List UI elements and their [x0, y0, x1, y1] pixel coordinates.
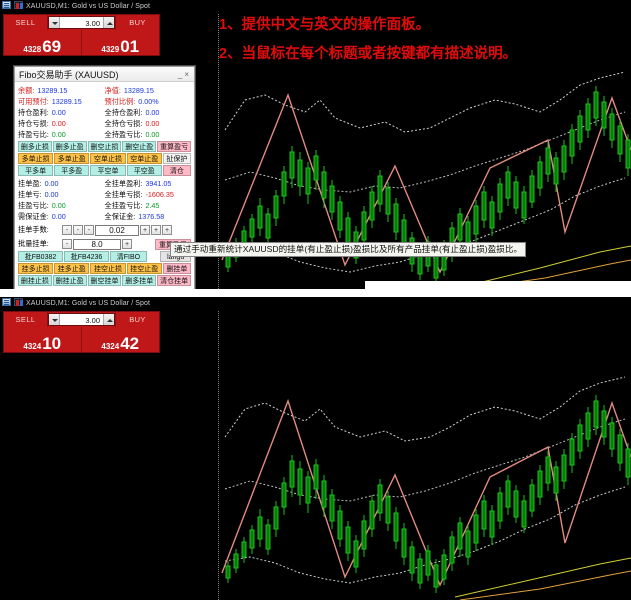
- panel-button-删空止盈[interactable]: 删空止盈: [122, 141, 156, 152]
- candle-chart-icon: [14, 1, 23, 9]
- stat-cell: 全持仓盈利:0.00: [105, 108, 192, 118]
- stat-row: 持盈亏比:0.00全持盈亏比:0.00: [18, 129, 191, 140]
- volume-down-icon[interactable]: [49, 314, 60, 325]
- screenshot-root: XAUUSD,M1: Gold vs US Dollar / Spot SELL…: [0, 0, 631, 600]
- terminal-pane-chinese: XAUUSD,M1: Gold vs US Dollar / Spot SELL…: [0, 0, 631, 289]
- vol-inc-1[interactable]: +: [140, 225, 150, 235]
- buy-price-big: 01: [120, 38, 139, 55]
- stat-label: 挂单亏:: [18, 190, 42, 200]
- stat-label: 持仓亏损:: [18, 119, 49, 129]
- sell-price[interactable]: 4328 69: [4, 30, 82, 56]
- stat-label: 可用预付:: [18, 97, 49, 107]
- stat-cell: 全挂单亏损:-1606.35: [105, 190, 192, 200]
- vol-inc-2[interactable]: +: [151, 225, 161, 235]
- stat-value: 0.00: [52, 201, 66, 211]
- stat-row: 挂盈亏比:0.00全挂盈亏比:2.45: [18, 200, 191, 211]
- vol-inc-3[interactable]: +: [162, 225, 172, 235]
- stats-block-2: 挂单盈:0.00全挂单盈利:3941.05挂单亏:0.00全挂单亏损:-1606…: [18, 178, 191, 222]
- button-row: 挂多止损挂多止盈挂空止损挂空止盈删挂单: [18, 263, 191, 274]
- volume-input[interactable]: 0.02: [95, 225, 139, 236]
- stat-label: 预付比例:: [105, 97, 136, 107]
- stat-label: 持盈亏比:: [18, 130, 49, 140]
- buy-price[interactable]: 4329 01: [82, 30, 160, 56]
- stat-value: 0.00: [52, 108, 66, 118]
- stat-value: 13289.15: [52, 97, 82, 107]
- stat-label: 全挂单亏损:: [105, 190, 143, 200]
- stat-label: 挂盈亏比:: [18, 201, 49, 211]
- panel-button-清仓[interactable]: 清仓: [163, 165, 191, 176]
- stat-value: 0.00: [52, 130, 66, 140]
- stat-cell: 全持仓亏损:0.00: [105, 119, 192, 129]
- panel-button-empty: [148, 251, 159, 262]
- panel-title-bar[interactable]: Fibo交易助手 (XAUUSD) _×: [15, 67, 194, 82]
- white-corner-fill: [365, 281, 631, 297]
- stat-label: 持仓盈利:: [18, 108, 49, 118]
- stat-label: 全持仓亏损:: [105, 119, 143, 129]
- stat-label: 全持盈亏比:: [105, 130, 143, 140]
- stat-cell: 挂盈亏比:0.00: [18, 201, 105, 211]
- panel-button-删空挂单[interactable]: 删空挂单: [88, 275, 122, 286]
- batch-inc[interactable]: +: [122, 239, 132, 249]
- panel-button-平空单[interactable]: 平空单: [90, 165, 125, 176]
- grid-icon: [2, 1, 11, 9]
- panel-button-删空止损[interactable]: 删空止损: [88, 141, 122, 152]
- buy-button[interactable]: BUY: [115, 312, 159, 327]
- panel-window-controls[interactable]: _×: [178, 70, 194, 79]
- panel-button-删多挂单[interactable]: 删多挂单: [122, 275, 156, 286]
- buy-price[interactable]: 4324 42: [82, 327, 160, 353]
- chart-symbol-label: XAUUSD,M1: Gold vs US Dollar / Spot: [26, 300, 150, 307]
- volume-up-icon[interactable]: [103, 17, 114, 28]
- volume-stepper[interactable]: 3.00: [48, 313, 115, 326]
- stat-label: 净值:: [105, 86, 121, 96]
- stat-row: 需保证金:0.00全保证金:1376.58: [18, 211, 191, 222]
- stat-row: 挂单盈:0.00全挂单盈利:3941.05: [18, 178, 191, 189]
- buy-price-small: 4329: [101, 45, 119, 55]
- sell-price[interactable]: 4324 10: [4, 327, 82, 353]
- stat-cell: 全挂单盈利:3941.05: [105, 179, 192, 189]
- stat-row: 可用预付:13289.15预付比例:0.00%: [18, 96, 191, 107]
- vol-dec-3[interactable]: -: [62, 225, 72, 235]
- crosshair-vline: [218, 297, 219, 600]
- panel-button-平多盈[interactable]: 平多盈: [54, 165, 89, 176]
- sell-price-big: 10: [42, 335, 61, 352]
- stat-row: 挂单亏:0.00全挂单亏损:-1606.35: [18, 189, 191, 200]
- stat-cell: 余额:13289.15: [18, 86, 105, 96]
- panel-button-删挂止盈[interactable]: 删挂止盈: [53, 275, 87, 286]
- stat-cell: 全挂盈亏比:2.45: [105, 201, 192, 211]
- stat-cell: 净值:13289.15: [105, 86, 192, 96]
- panel-button-挂多止损[interactable]: 挂多止损: [18, 263, 53, 274]
- volume-value[interactable]: 3.00: [60, 17, 103, 28]
- panel-button-批fb4236[interactable]: 批FB4236: [64, 251, 109, 262]
- stat-cell: 全保证金:1376.58: [105, 212, 192, 222]
- panel-button-删多止盈[interactable]: 删多止盈: [53, 141, 87, 152]
- button-row: 批FB0382批FB4236清FIBOlangu: [18, 251, 191, 262]
- sell-button[interactable]: SELL: [4, 15, 48, 30]
- sell-price-small: 4324: [23, 342, 41, 352]
- one-click-trading-panel-english[interactable]: SELL 3.00 BUY 4324 10 4324 42: [3, 311, 160, 353]
- stat-row: 余额:13289.15净值:13289.15: [18, 85, 191, 96]
- stat-label: 全挂盈亏比:: [105, 201, 143, 211]
- one-click-trading-panel-chinese[interactable]: SELL 3.00 BUY 4328 69 4329 01: [3, 14, 160, 56]
- chart-symbol-label: XAUUSD,M1: Gold vs US Dollar / Spot: [26, 3, 150, 10]
- panel-button-平空盈[interactable]: 平空盈: [127, 165, 162, 176]
- stat-cell: 持仓盈利:0.00: [18, 108, 105, 118]
- batch-spinner-row[interactable]: 批量挂单: - 8.0 + 重算盈亏: [18, 238, 191, 250]
- panel-button-空单止盈[interactable]: 空单止盈: [127, 153, 162, 164]
- tooltip-chinese: 通过手动重新统计XAUUSD的挂单(有止盈止损)盈损比及所有产品挂单(有止盈止损…: [170, 242, 526, 257]
- vol-dec-1[interactable]: -: [84, 225, 94, 235]
- stat-cell: 挂单盈:0.00: [18, 179, 105, 189]
- stat-value: 0.00: [45, 179, 59, 189]
- stat-value: 1376.58: [138, 212, 164, 222]
- panel-title: Fibo交易助手 (XAUUSD): [15, 68, 178, 81]
- volume-label: 挂单手数:: [18, 225, 62, 235]
- close-icon[interactable]: ×: [184, 70, 191, 79]
- sell-price-small: 4328: [23, 45, 41, 55]
- candle-chart-icon: [14, 298, 23, 306]
- stat-value: 13289.15: [37, 86, 67, 96]
- stat-cell: 持仓亏损:0.00: [18, 119, 105, 129]
- stat-cell: 可用预付:13289.15: [18, 97, 105, 107]
- stat-value: 0.00: [45, 190, 59, 200]
- stat-value: 0.00: [145, 119, 159, 129]
- annotation-cn-line1: 1、提供中文与英文的操作面板。: [219, 13, 430, 34]
- button-row: 删多止损删多止盈删空止损删空止盈重算盈亏: [18, 141, 191, 152]
- batch-label: 批量挂单:: [18, 239, 62, 249]
- panel-button-挂空止盈[interactable]: 挂空止盈: [127, 263, 162, 274]
- panel-button-挂多止盈[interactable]: 挂多止盈: [54, 263, 89, 274]
- button-row: 平多单平多盈平空单平空盈清仓: [18, 165, 191, 176]
- panel-button-扯保护[interactable]: 扯保护: [163, 153, 191, 164]
- stat-value: 3941.05: [145, 179, 171, 189]
- button-row: 删挂止损删挂止盈删空挂单删多挂单清仓挂单: [18, 275, 191, 286]
- panel-button-挂空止损[interactable]: 挂空止损: [90, 263, 125, 274]
- button-row: 多单止损多单止盈空单止损空单止盈扯保护: [18, 153, 191, 164]
- panel-button-多单止损[interactable]: 多单止损: [18, 153, 53, 164]
- sell-price-big: 69: [42, 38, 61, 55]
- terminal-pane-english: XAUUSD,M1: Gold vs US Dollar / Spot SELL…: [0, 297, 631, 600]
- vol-dec-2[interactable]: -: [73, 225, 83, 235]
- stat-label: 挂单盈:: [18, 179, 42, 189]
- stat-value: 0.00: [145, 130, 159, 140]
- annotation-cn-line2: 2、当鼠标在每个标题或者按键都有描述说明。: [219, 42, 517, 63]
- button-block-1[interactable]: 删多止损删多止盈删空止损删空止盈重算盈亏多单止损多单止盈空单止损空单止盈扯保护平…: [18, 141, 191, 176]
- stat-label: 需保证金:: [18, 212, 49, 222]
- panel-button-批fb0382[interactable]: 批FB0382: [18, 251, 63, 262]
- volume-stepper[interactable]: 3.00: [48, 16, 115, 29]
- sell-button[interactable]: SELL: [4, 312, 48, 327]
- stat-label: 全挂单盈利:: [105, 179, 143, 189]
- chart-title-bar: XAUUSD,M1: Gold vs US Dollar / Spot: [0, 297, 631, 310]
- panel-button-多单止盈[interactable]: 多单止盈: [54, 153, 89, 164]
- volume-down-icon[interactable]: [49, 17, 60, 28]
- panel-button-删多止损[interactable]: 删多止损: [18, 141, 52, 152]
- fibo-assistant-panel-chinese[interactable]: Fibo交易助手 (XAUUSD) _× 余额:13289.15净值:13289…: [14, 66, 195, 289]
- stat-row: 持仓亏损:0.00全持仓亏损:0.00: [18, 118, 191, 129]
- stat-value: 0.00: [52, 119, 66, 129]
- panel-button-删挂止损[interactable]: 删挂止损: [18, 275, 52, 286]
- buy-button[interactable]: BUY: [115, 15, 159, 30]
- button-block-2[interactable]: 批FB0382批FB4236清FIBOlangu挂多止损挂多止盈挂空止损挂空止盈…: [18, 251, 191, 286]
- panel-button-空单止损[interactable]: 空单止损: [90, 153, 125, 164]
- stat-row: 持仓盈利:0.00全持仓盈利:0.00: [18, 107, 191, 118]
- stat-label: 全保证金:: [105, 212, 136, 222]
- stat-cell: 持盈亏比:0.00: [18, 130, 105, 140]
- stat-value: 0.00%: [138, 97, 158, 107]
- panel-button-清fibo[interactable]: 清FIBO: [110, 251, 147, 262]
- stat-value: 0.00: [52, 212, 66, 222]
- stat-cell: 全持盈亏比:0.00: [105, 130, 192, 140]
- stat-value: 2.45: [145, 201, 159, 211]
- stat-label: 余额:: [18, 86, 34, 96]
- batch-dec[interactable]: -: [62, 239, 72, 249]
- panel-body: 余额:13289.15净值:13289.15可用预付:13289.15预付比例:…: [15, 82, 194, 289]
- chart-title-bar: XAUUSD,M1: Gold vs US Dollar / Spot: [0, 0, 631, 13]
- stat-value: 0.00: [145, 108, 159, 118]
- panel-button-平多单[interactable]: 平多单: [18, 165, 53, 176]
- volume-up-icon[interactable]: [103, 314, 114, 325]
- stats-block-1: 余额:13289.15净值:13289.15可用预付:13289.15预付比例:…: [18, 85, 191, 140]
- panel-button-重算盈亏[interactable]: 重算盈亏: [157, 141, 191, 152]
- stat-label: 全持仓盈利:: [105, 108, 143, 118]
- stat-value: -1606.35: [145, 190, 173, 200]
- stat-cell: 挂单亏:0.00: [18, 190, 105, 200]
- stat-value: 13289.15: [124, 86, 154, 96]
- panel-button-删挂单[interactable]: 删挂单: [163, 263, 191, 274]
- batch-input[interactable]: 8.0: [73, 239, 121, 250]
- stat-cell: 需保证金:0.00: [18, 212, 105, 222]
- grid-icon: [2, 298, 11, 306]
- buy-price-big: 42: [120, 335, 139, 352]
- volume-spinner-row[interactable]: 挂单手数: - - - 0.02 + + +: [18, 224, 191, 236]
- stat-cell: 预付比例:0.00%: [105, 97, 192, 107]
- volume-value[interactable]: 3.00: [60, 314, 103, 325]
- buy-price-small: 4324: [101, 342, 119, 352]
- panel-button-清仓挂单[interactable]: 清仓挂单: [157, 275, 191, 286]
